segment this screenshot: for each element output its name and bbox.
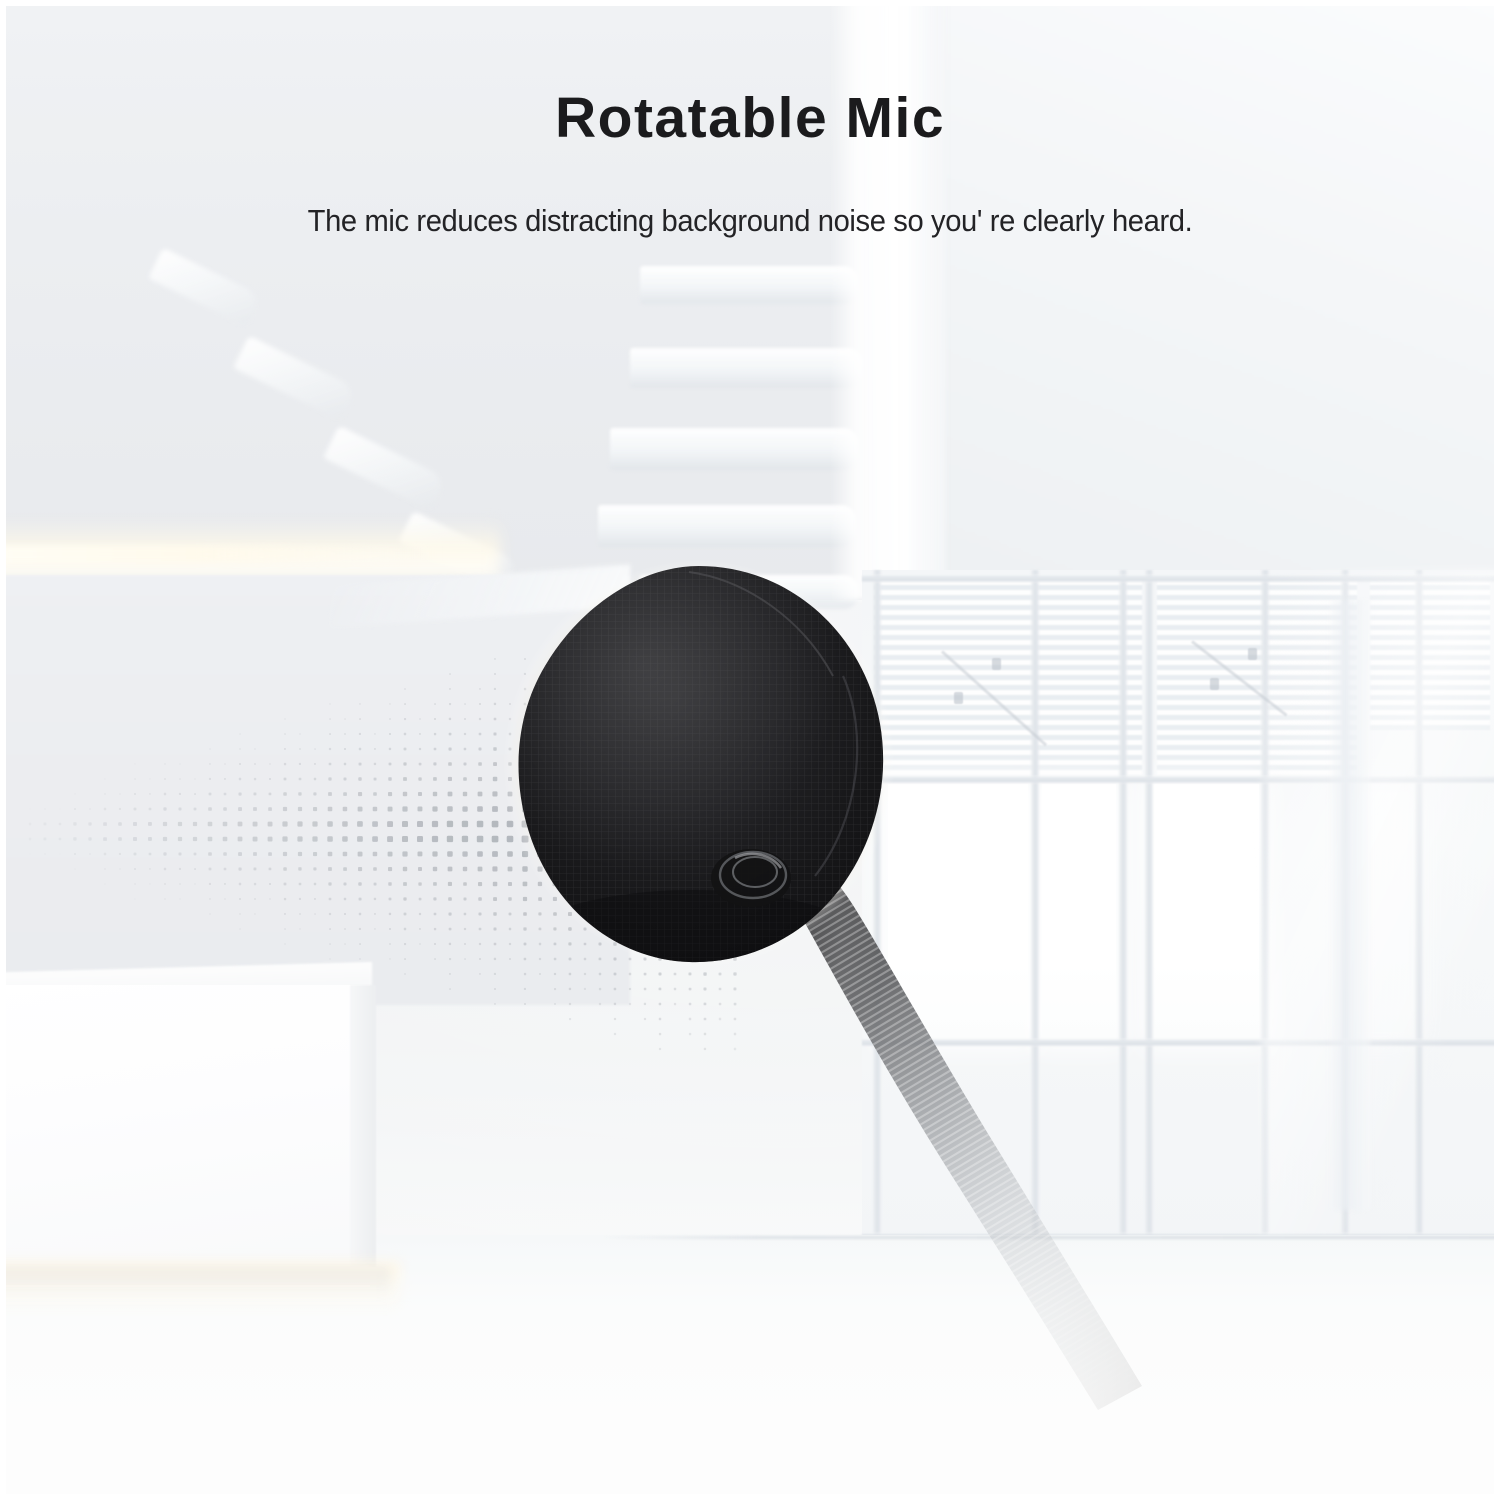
background-column — [1330, 600, 1370, 1210]
track-light-head — [954, 692, 963, 704]
desk-floor-shadow — [0, 1268, 390, 1298]
ceiling-slat-diagonal — [148, 248, 262, 327]
page-edge-left — [0, 0, 6, 1500]
window-blinds — [874, 580, 1142, 775]
ceiling-fin — [630, 348, 862, 388]
page-edge-right — [1494, 0, 1500, 1500]
reception-desk — [0, 985, 370, 1285]
page-edge-top — [0, 0, 1500, 6]
ceiling-fin — [640, 266, 858, 304]
track-light-head — [992, 658, 1001, 670]
ceiling-fin — [640, 575, 858, 609]
product-marketing-image: Rotatable Mic The mic reduces distractin… — [0, 0, 1500, 1500]
page-title: Rotatable Mic — [0, 85, 1500, 151]
window-mullion-vertical — [1030, 570, 1040, 1246]
glass-reflection — [1262, 570, 1500, 1246]
glass-partition-wall — [862, 570, 1500, 1246]
track-light-head — [1210, 678, 1219, 690]
ceiling-fin — [598, 505, 856, 547]
ceiling-fin — [610, 428, 858, 470]
floor-wall-junction — [600, 1236, 1500, 1239]
ceiling-slat-diagonal — [233, 336, 357, 421]
track-light-head — [1248, 648, 1257, 660]
ceiling-slat-diagonal — [323, 426, 447, 511]
left-wall-plane — [0, 575, 630, 1005]
window-mullion-vertical — [1144, 570, 1154, 1246]
page-subtitle: The mic reduces distracting background n… — [45, 203, 1455, 239]
window-mullion-vertical — [1118, 570, 1128, 1246]
window-mullion-vertical — [872, 570, 882, 1246]
reception-desk-side — [350, 985, 376, 1267]
window-pane-bright — [1042, 784, 1116, 1039]
window-pane-bright — [888, 784, 1028, 1039]
cove-light-strip — [0, 546, 440, 562]
page-edge-bottom — [0, 1494, 1500, 1500]
window-pane-bright — [1152, 784, 1259, 1039]
